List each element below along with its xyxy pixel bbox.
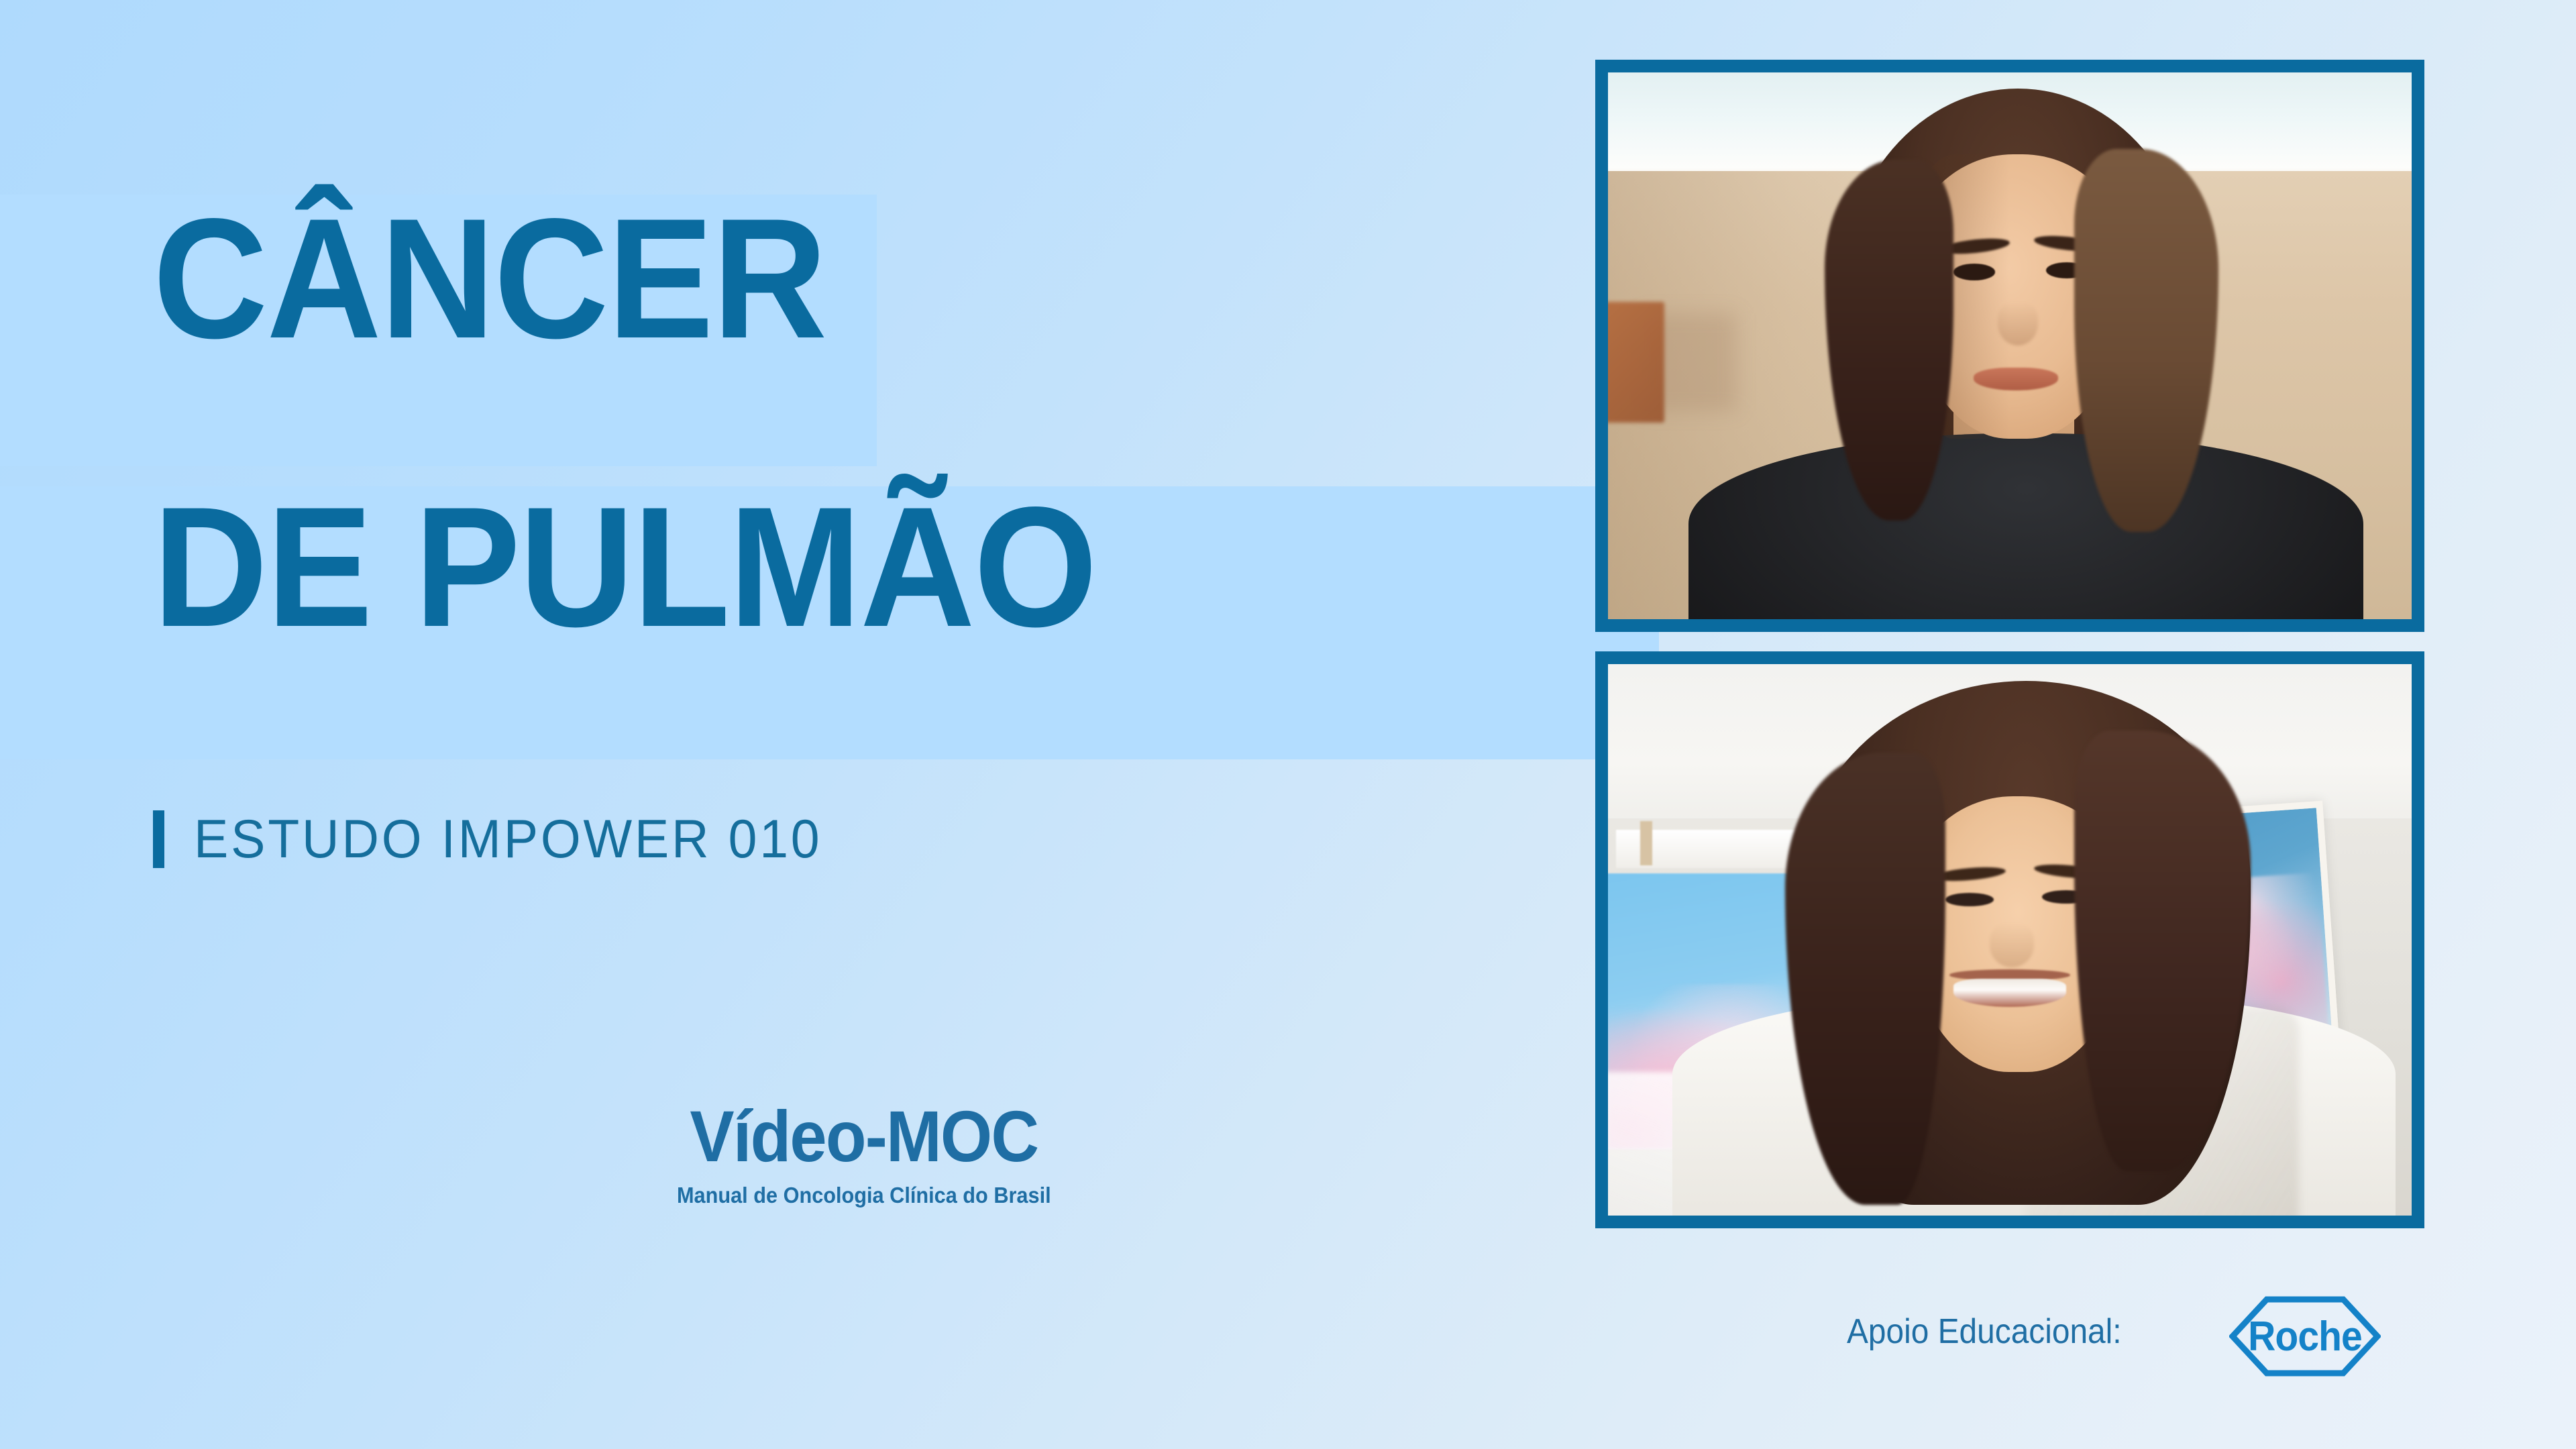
video-tile-2-content — [1608, 664, 2412, 1216]
subtitle-label: ESTUDO IMPOWER 010 — [194, 810, 822, 868]
video-moc-wordmark: Vídeo-MOC — [679, 1100, 1049, 1173]
v1-torso-black-top — [1688, 433, 2363, 619]
video-moc-tagline: Manual de Oncologia Clínica do Brasil — [677, 1182, 1051, 1209]
video-tile-1[interactable] — [1595, 60, 2424, 632]
v1-wall-object — [1608, 302, 1664, 422]
page-title: CÂNCER DE PULMÃO — [153, 201, 1167, 645]
v1-nose — [1998, 302, 2038, 345]
title-line-2: DE PULMÃO — [153, 490, 1096, 645]
video-moc-logo: Vídeo-MOC Manual de Oncologia Clínica do… — [663, 1100, 1065, 1209]
video-tile-2[interactable] — [1595, 651, 2424, 1228]
video-tile-1-content — [1608, 72, 2412, 619]
roche-wordmark: Roche — [2235, 1296, 2375, 1377]
subtitle-accent-bar — [153, 810, 164, 868]
v2-shelf-object — [1640, 821, 1652, 865]
roche-logo: Roche — [2229, 1296, 2381, 1377]
sponsor-label: Apoio Educacional: — [1847, 1311, 2122, 1352]
presentation-slide: CÂNCER DE PULMÃO ESTUDO IMPOWER 010 Víde… — [0, 0, 2576, 1449]
title-line-1: CÂNCER — [153, 201, 1096, 357]
sponsor-block: Apoio Educacional: — [1847, 1311, 2145, 1352]
v2-nose — [1990, 923, 2034, 967]
v1-eye-left — [1953, 264, 1995, 280]
subtitle: ESTUDO IMPOWER 010 — [153, 810, 855, 868]
v2-smile — [1953, 979, 2066, 1008]
v2-eye-left — [1945, 893, 1994, 906]
